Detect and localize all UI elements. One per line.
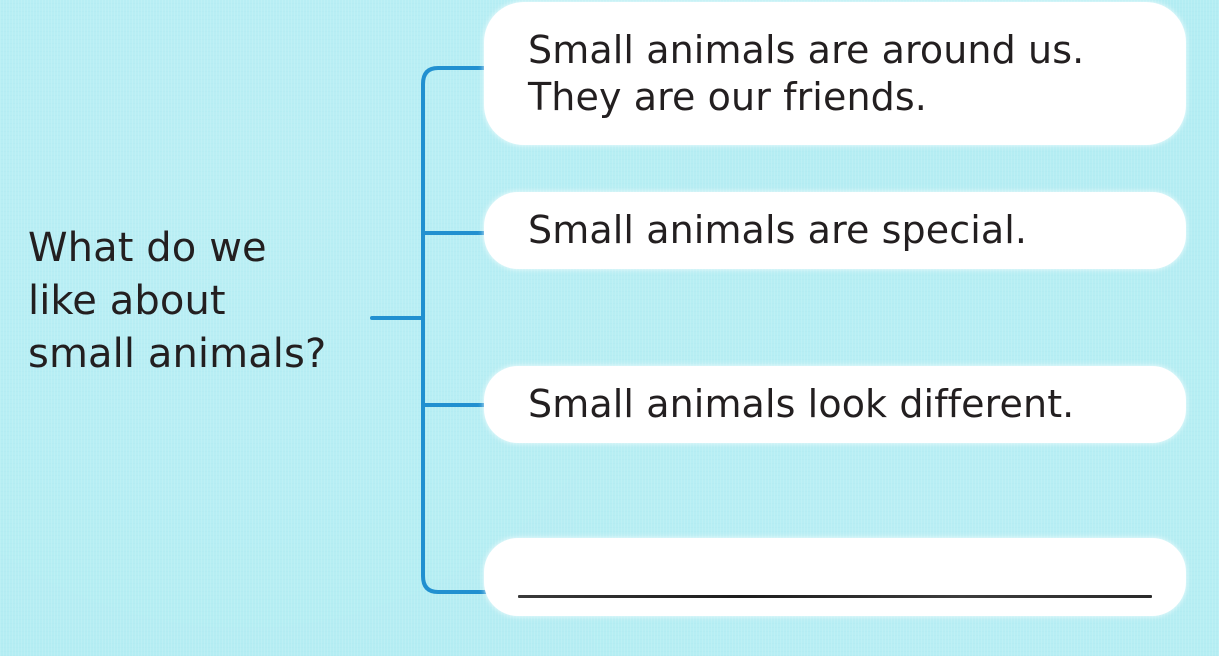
answer-box-3[interactable]: Small animals look different.: [484, 366, 1186, 443]
worksheet-canvas: What do we like about small animals? Sma…: [0, 0, 1219, 656]
answer-box-1[interactable]: Small animals are around us. They are ou…: [484, 2, 1186, 145]
answer-box-2[interactable]: Small animals are special.: [484, 192, 1186, 269]
question-prompt: What do we like about small animals?: [28, 222, 378, 380]
write-on-line: [518, 595, 1152, 598]
bracket-spine: [423, 68, 488, 592]
bracket-connector: [360, 50, 500, 610]
answer-text-2: Small animals are special.: [528, 207, 1142, 253]
answer-text-3: Small animals look different.: [528, 381, 1142, 427]
answer-box-4-blank[interactable]: [484, 538, 1186, 616]
answer-text-1: Small animals are around us. They are ou…: [528, 27, 1142, 120]
